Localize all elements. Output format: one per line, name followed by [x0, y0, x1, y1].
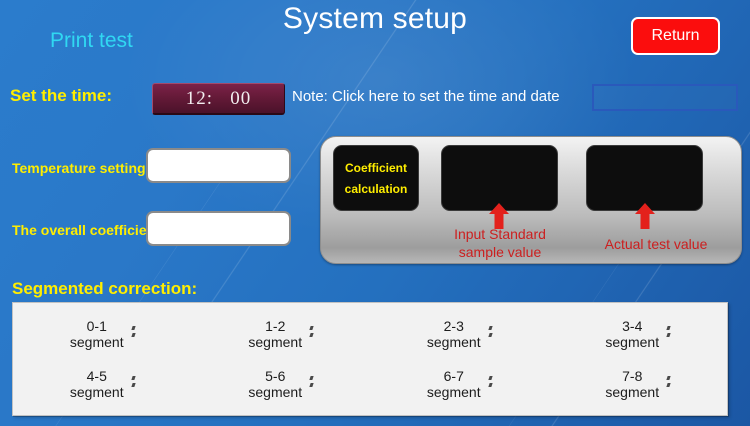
segment-mark-icon	[667, 326, 670, 343]
segment-cell-4-5[interactable]: 4-5 segment	[13, 368, 192, 400]
segment-mark-icon	[132, 376, 135, 393]
segmented-correction-title: Segmented correction:	[12, 279, 197, 299]
overall-coefficient-input[interactable]	[146, 211, 291, 246]
temperature-setting-label: Temperature setting:	[12, 160, 150, 176]
segment-cell-7-8[interactable]: 7-8 segment	[549, 368, 728, 400]
segment-mark-icon	[132, 326, 135, 343]
segment-cell-0-1[interactable]: 0-1 segment	[13, 318, 192, 350]
segment-cell-3-4[interactable]: 3-4 segment	[549, 318, 728, 350]
standard-sample-annotation: Input Standard sample value	[432, 226, 568, 261]
segment-mark-icon	[667, 376, 670, 393]
overall-coefficient-label: The overall coefficient:	[12, 222, 164, 238]
return-button-label: Return	[651, 27, 699, 45]
segment-mark-icon	[310, 326, 313, 343]
set-time-label: Set the time:	[10, 86, 112, 106]
sn-field-group: sn	[592, 84, 738, 111]
segment-label: 4-5 segment	[70, 368, 124, 400]
segmented-correction-panel: 0-1 segment 1-2 segment 2-3 segment 3-4 …	[12, 302, 728, 416]
segment-mark-icon	[489, 326, 492, 343]
coefficient-calculation-label-line1: Coefficient	[345, 162, 407, 174]
return-button[interactable]: Return	[631, 17, 720, 55]
temperature-setting-input[interactable]	[146, 148, 291, 183]
segment-row: 4-5 segment 5-6 segment 6-7 segment 7-8 …	[13, 368, 727, 400]
coefficient-calculation-button[interactable]: Coefficient calculation	[333, 145, 419, 211]
time-display-button[interactable]: 12: 00	[152, 83, 285, 115]
segment-label: 3-4 segment	[605, 318, 659, 350]
segment-cell-2-3[interactable]: 2-3 segment	[370, 318, 549, 350]
segment-label: 7-8 segment	[605, 368, 659, 400]
segment-cell-5-6[interactable]: 5-6 segment	[192, 368, 371, 400]
system-setup-screen: System setup Print test Return Set the t…	[0, 0, 750, 426]
actual-test-annotation: Actual test value	[586, 236, 726, 254]
segment-label: 5-6 segment	[248, 368, 302, 400]
segment-label: 0-1 segment	[70, 318, 124, 350]
segment-label: 2-3 segment	[427, 318, 481, 350]
print-test-button[interactable]: Print test	[50, 29, 133, 53]
segment-mark-icon	[310, 376, 313, 393]
segment-label: 6-7 segment	[427, 368, 481, 400]
segment-cell-1-2[interactable]: 1-2 segment	[192, 318, 371, 350]
segment-label: 1-2 segment	[248, 318, 302, 350]
segment-row: 0-1 segment 1-2 segment 2-3 segment 3-4 …	[13, 318, 727, 350]
actual-test-value-field[interactable]	[586, 145, 703, 211]
standard-sample-value-field[interactable]	[441, 145, 558, 211]
segment-mark-icon	[489, 376, 492, 393]
time-value: 12: 00	[186, 88, 252, 110]
segment-cell-6-7[interactable]: 6-7 segment	[370, 368, 549, 400]
coefficient-calculation-label-line2: calculation	[345, 183, 408, 195]
sn-input[interactable]	[594, 86, 750, 109]
time-note-text: Note: Click here to set the time and dat…	[292, 88, 560, 105]
